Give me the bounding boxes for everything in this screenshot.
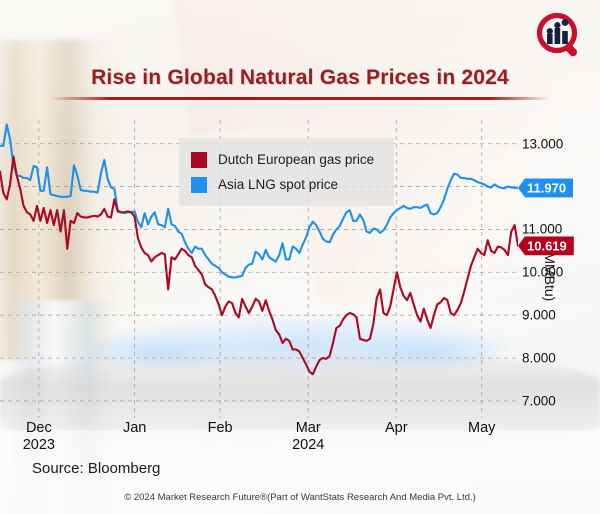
infographic-canvas: Rise in Global Natural Gas Prices in 202… (0, 0, 600, 514)
x-axis-tick: Feb (208, 420, 233, 437)
y-axis-tick: 13.000 (522, 136, 563, 151)
source-note: Source: Bloomberg (32, 460, 160, 477)
legend-label-dutch-gas: Dutch European gas price (218, 152, 374, 167)
x-axis-tick-year: 2024 (292, 437, 324, 454)
x-axis-tick: May (468, 420, 495, 437)
x-axis-tick: Apr (385, 420, 408, 437)
x-axis-tick: Mar2024 (292, 420, 324, 454)
y-axis-tick: 9.000 (522, 308, 556, 323)
y-axis-tick: 7.000 (522, 393, 556, 408)
legend-label-asia-lng: Asia LNG spot price (218, 177, 338, 192)
x-axis: Dec2023JanFebMar2024AprMay (0, 418, 518, 462)
title-underline (50, 97, 550, 100)
x-axis-tick-month: Jan (123, 420, 146, 436)
x-axis-tick-month: Apr (385, 420, 408, 436)
x-axis-tick-month: May (468, 420, 495, 436)
x-axis-tick-month: Mar (296, 420, 321, 436)
asia-lng-last-value: 11.970 (518, 178, 573, 197)
dutch-gas-last-value: 10.619 (518, 236, 574, 255)
legend-swatch-blue (191, 177, 207, 193)
legend-item-asia-lng[interactable]: Asia LNG spot price (191, 172, 374, 197)
x-axis-tick-month: Feb (208, 420, 233, 436)
x-axis-tick-year: 2023 (23, 437, 55, 454)
title-block: Rise in Global Natural Gas Prices in 202… (0, 66, 600, 100)
legend-item-dutch-gas[interactable]: Dutch European gas price (191, 147, 374, 172)
x-axis-tick: Dec2023 (23, 420, 55, 454)
magnifier-bar-chart-logo (534, 12, 586, 60)
y-axis-tick: 8.000 (522, 351, 556, 366)
page-title: Rise in Global Natural Gas Prices in 202… (0, 66, 600, 90)
legend-swatch-red (191, 152, 207, 168)
x-axis-tick-month: Dec (26, 420, 52, 436)
chart-legend: Dutch European gas price Asia LNG spot p… (179, 138, 394, 206)
copyright-note: © 2024 Market Research Future®(Part of W… (0, 492, 600, 503)
y-axis-tick: 11.000 (522, 222, 562, 237)
x-axis-tick: Jan (123, 420, 146, 437)
